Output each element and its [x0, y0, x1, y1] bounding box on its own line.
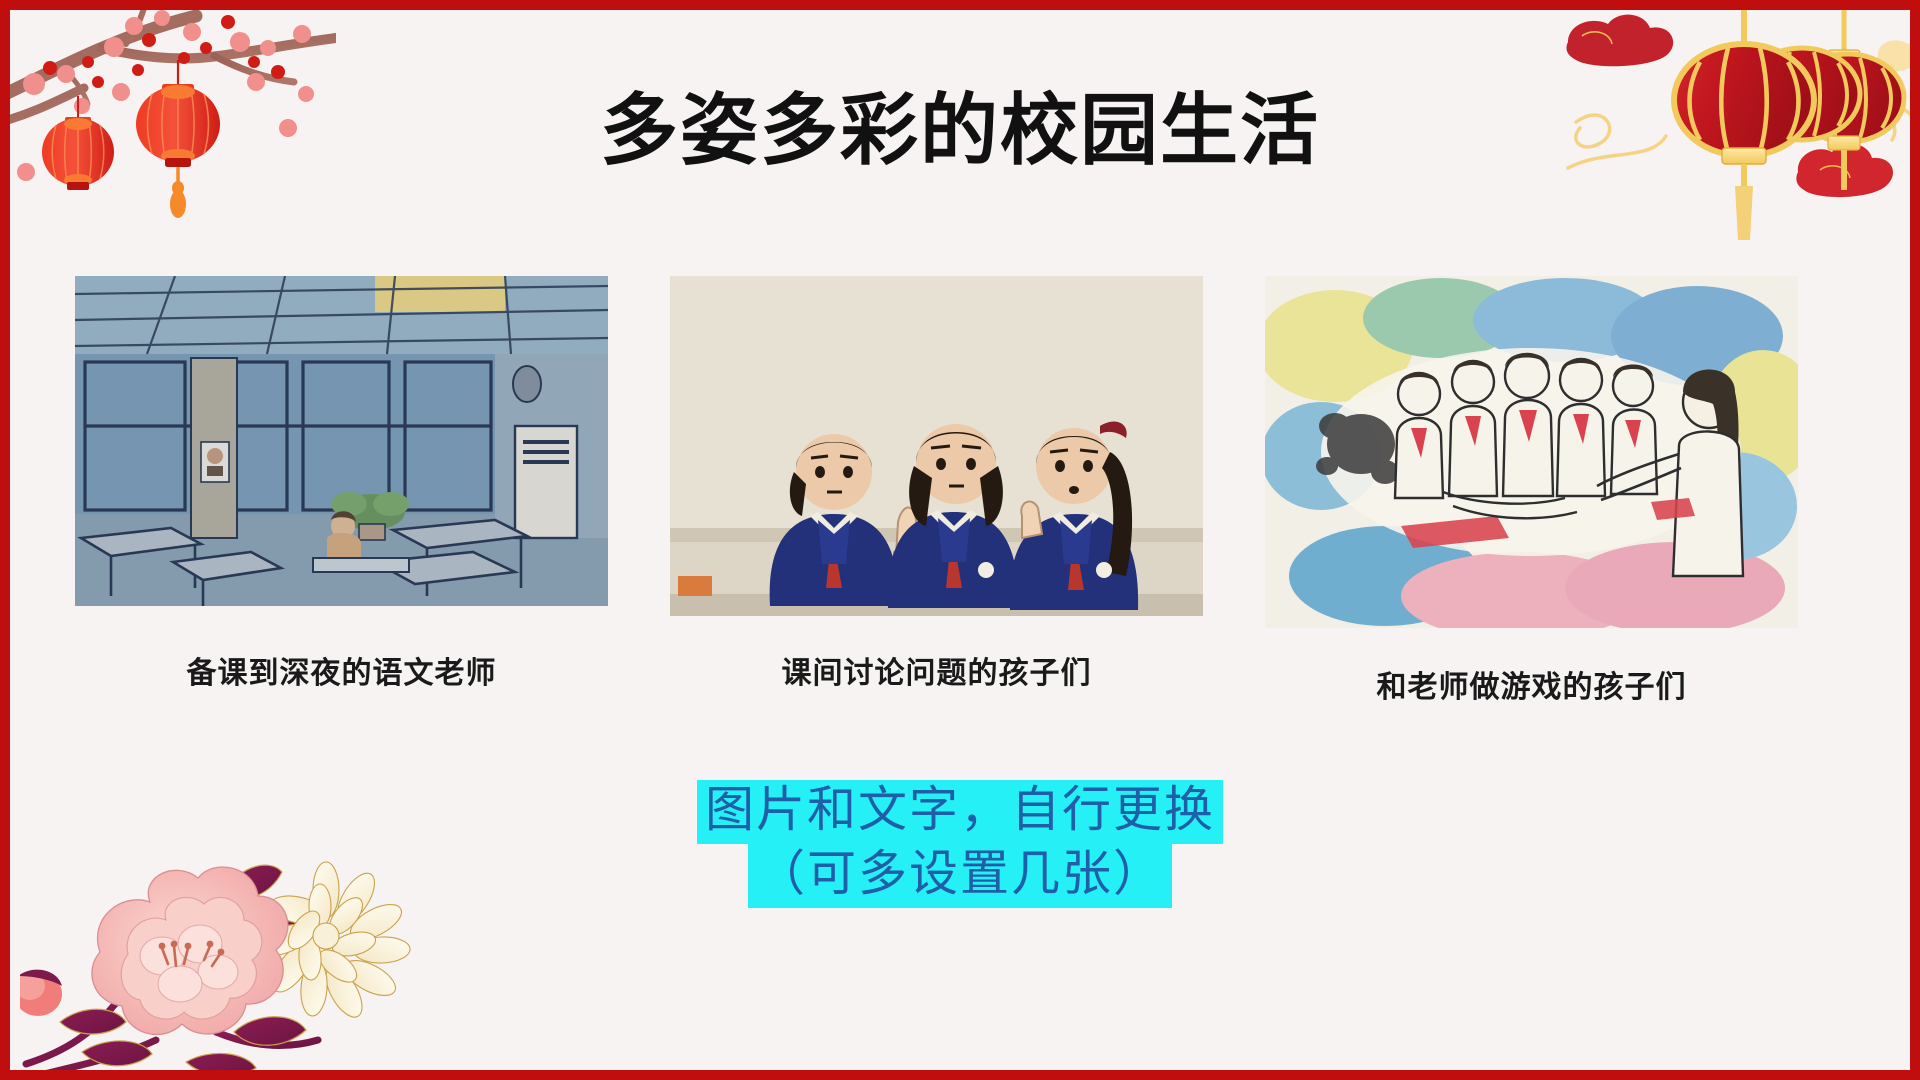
photo-image-2[interactable] [670, 276, 1203, 616]
photo-gallery-row: 备课到深夜的语文老师 [10, 276, 1910, 616]
photo-cell-3[interactable]: 和老师做游戏的孩子们 [1265, 276, 1798, 628]
slide-title: 多姿多彩的校园生活 [10, 88, 1910, 174]
slide-canvas: 多姿多彩的校园生活 [10, 10, 1910, 1070]
photo-caption-2: 课间讨论问题的孩子们 [670, 648, 1203, 692]
editor-note-line-1: 图片和文字，自行更换 [697, 780, 1223, 844]
photo-caption-1: 备课到深夜的语文老师 [75, 648, 608, 692]
coral-bud [20, 970, 62, 1016]
editor-note: 图片和文字，自行更换 （可多设置几张） [10, 780, 1910, 908]
photo-image-3[interactable] [1265, 276, 1798, 628]
editor-note-line-2: （可多设置几张） [748, 844, 1172, 908]
photo-image-1[interactable] [75, 276, 608, 606]
photo-cell-2[interactable]: 课间讨论问题的孩子们 [670, 276, 1203, 616]
photo-caption-3: 和老师做游戏的孩子们 [1265, 662, 1798, 706]
photo-cell-1[interactable]: 备课到深夜的语文老师 [75, 276, 608, 606]
